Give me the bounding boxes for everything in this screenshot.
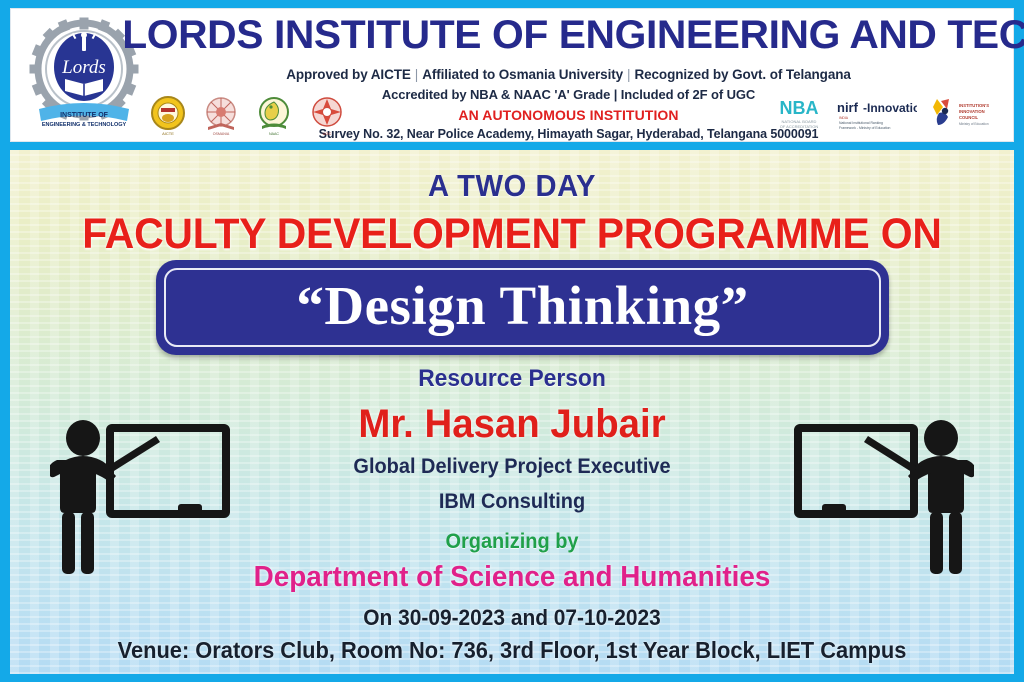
svg-text:OF ACCREDITATION: OF ACCREDITATION: [780, 124, 819, 129]
teacher-whiteboard-illustration-right: [784, 408, 974, 583]
institute-header-band: Lords INSTITUTE OF ENGINEERING & TECHNOL…: [10, 8, 1014, 142]
svg-text:INNOVATION: INNOVATION: [959, 109, 985, 114]
svg-text:National Institutional Ranking: National Institutional Ranking: [839, 121, 883, 125]
svg-text:INSTITUTION'S: INSTITUTION'S: [959, 103, 989, 108]
svg-text:Lords: Lords: [61, 57, 106, 78]
nba-logo-icon: NBA NATIONAL BOARD OF ACCREDITATION: [775, 93, 823, 133]
svg-text:Framework - Ministry of Educat: Framework - Ministry of Education: [839, 126, 891, 130]
programme-title: FACULTY DEVELOPMENT PROGRAMME ON: [35, 210, 989, 259]
svg-text:NAAC: NAAC: [269, 132, 279, 136]
svg-text:INSTITUTE OF: INSTITUTE OF: [60, 112, 109, 119]
svg-text:COUNCIL: COUNCIL: [959, 115, 979, 120]
accreditation-logo-row: AICTE OSMANIA NAAC: [149, 93, 346, 137]
approved-part-2: Recognized by Govt. of Telangana: [634, 67, 850, 82]
govt-emblem-logo-icon: OSMANIA: [202, 93, 240, 137]
topic-banner: “Design Thinking”: [156, 260, 889, 355]
approved-part-1: Affiliated to Osmania University: [422, 67, 623, 82]
svg-text:UGC: UGC: [323, 131, 332, 136]
event-date: On 30-09-2023 and 07-10-2023: [35, 605, 989, 631]
svg-text:nirf: nirf: [837, 100, 859, 115]
approved-line: Approved by AICTE|Affiliated to Osmania …: [131, 67, 1006, 82]
nba-logo-text: NBA: [780, 98, 819, 118]
svg-text:INDIA: INDIA: [839, 116, 849, 120]
svg-text:OSMANIA: OSMANIA: [213, 132, 230, 136]
svg-text:Ministry of Education: Ministry of Education: [959, 122, 989, 126]
topic-title: “Design Thinking”: [156, 260, 889, 355]
svg-text:-Innovation: -Innovation: [863, 101, 917, 115]
institute-name: LORDS INSTITUTE OF ENGINEERING AND TECHN…: [122, 13, 1015, 58]
nirf-innovation-logo-icon: nirf -Innovation INDIA National Institut…: [833, 93, 917, 133]
event-poster: Lords INSTITUTE OF ENGINEERING & TECHNOL…: [0, 0, 1024, 682]
ugc-logo-icon: UGC: [308, 93, 346, 137]
separator-icon: |: [411, 67, 422, 82]
svg-text:ENGINEERING & TECHNOLOGY: ENGINEERING & TECHNOLOGY: [42, 122, 127, 128]
poster-body: A TWO DAY FACULTY DEVELOPMENT PROGRAMME …: [10, 150, 1014, 674]
svg-text:AICTE: AICTE: [162, 131, 174, 136]
separator-icon: |: [623, 67, 634, 82]
aicte-logo-icon: AICTE: [149, 93, 187, 137]
two-day-label: A TWO DAY: [40, 168, 984, 204]
resource-person-label: Resource Person: [35, 365, 989, 393]
approved-part-0: Approved by AICTE: [286, 67, 411, 82]
naac-logo-icon: NAAC: [255, 93, 293, 137]
event-venue: Venue: Orators Club, Room No: 736, 3rd F…: [35, 637, 989, 664]
institutions-innovation-council-logo-icon: INSTITUTION'S INNOVATION COUNCIL Ministr…: [927, 93, 997, 133]
right-logo-row: NBA NATIONAL BOARD OF ACCREDITATION nirf…: [775, 93, 997, 133]
teacher-whiteboard-illustration-left: [50, 408, 240, 583]
